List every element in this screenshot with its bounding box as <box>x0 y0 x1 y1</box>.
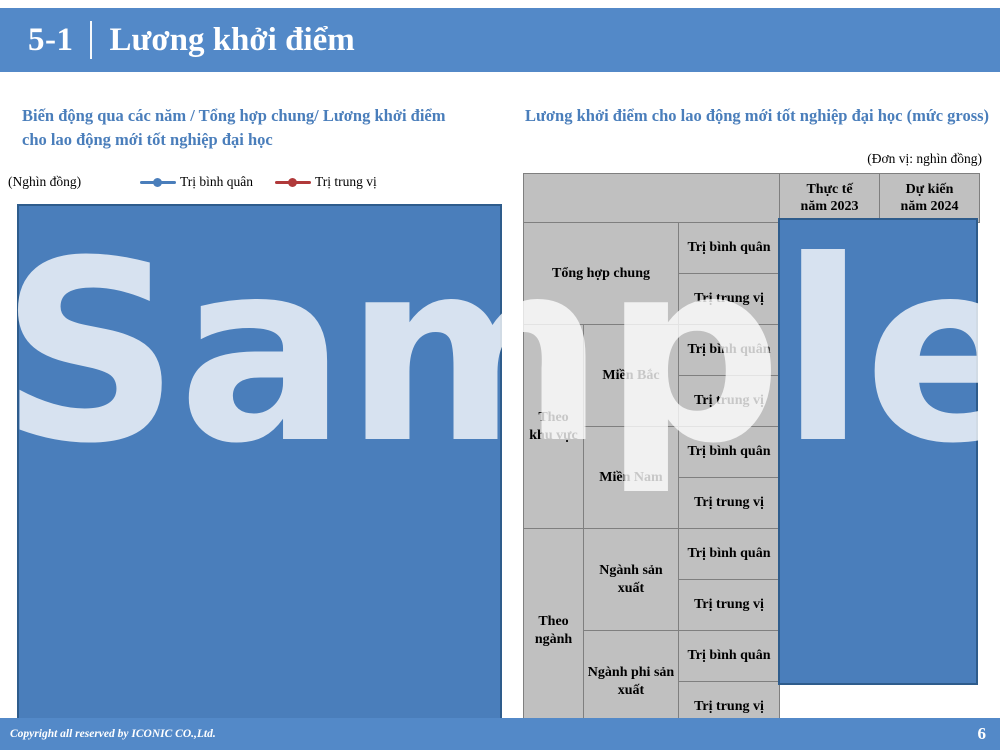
table-unit-note: (Đơn vị: nghìn đồng) <box>867 151 982 167</box>
table-corner-cell <box>524 174 780 223</box>
row-subgroup-north: Miền Bắc <box>584 325 679 427</box>
row-subgroup-manufacturing: Ngành sản xuất <box>584 529 679 631</box>
column-header-plan-2024: Dự kiến năm 2024 <box>880 174 980 223</box>
metric-non-manufacturing-average: Trị bình quân <box>679 631 780 682</box>
metric-overall-median: Trị trung vị <box>679 274 780 325</box>
table-data-mask <box>778 218 978 685</box>
row-group-region: Theo khu vực <box>524 325 584 529</box>
row-group-overall: Tổng hợp chung <box>524 223 679 325</box>
footer-copyright: Copyright all reserved by ICONIC CO.,Ltd… <box>10 728 216 740</box>
slide-footer: Copyright all reserved by ICONIC CO.,Ltd… <box>0 718 1000 750</box>
legend-label-median: Trị trung vị <box>315 174 377 190</box>
section-number: 5-1 <box>28 24 74 57</box>
footer-page-number: 6 <box>978 724 987 744</box>
metric-north-median: Trị trung vị <box>679 376 780 427</box>
metric-manufacturing-median: Trị trung vị <box>679 580 780 631</box>
metric-south-average: Trị bình quân <box>679 427 780 478</box>
slide-header: 5-1 Lương khởi điểm <box>0 8 1000 72</box>
slide-root: 5-1 Lương khởi điểm Biến động qua các nă… <box>0 0 1000 750</box>
row-group-industry: Theo ngành <box>524 529 584 733</box>
metric-overall-average: Trị bình quân <box>679 223 780 274</box>
chart-title: Biến động qua các năm / Tổng hợp chung/ … <box>22 104 472 152</box>
left-chart-panel: Biến động qua các năm / Tổng hợp chung/ … <box>0 96 515 696</box>
chart-legend: Trị bình quân Trị trung vị <box>140 174 377 190</box>
chart-plot-area <box>17 204 502 741</box>
line-marker-icon <box>140 177 176 187</box>
y-axis-unit-label: (Nghìn đồng) <box>8 174 81 190</box>
column-header-actual-2023: Thực tế năm 2023 <box>780 174 880 223</box>
line-marker-icon <box>275 177 311 187</box>
legend-label-average: Trị bình quân <box>180 174 253 190</box>
header-divider <box>90 21 92 59</box>
metric-manufacturing-average: Trị bình quân <box>679 529 780 580</box>
table-title: Lương khởi điểm cho lao động mới tốt ngh… <box>525 104 997 128</box>
table-header-row: Thực tế năm 2023 Dự kiến năm 2024 <box>524 174 980 223</box>
metric-south-median: Trị trung vị <box>679 478 780 529</box>
metric-north-average: Trị bình quân <box>679 325 780 376</box>
row-subgroup-south: Miền Nam <box>584 427 679 529</box>
page-title: Lương khởi điểm <box>110 24 355 57</box>
legend-item-median: Trị trung vị <box>275 174 377 190</box>
legend-item-average: Trị bình quân <box>140 174 253 190</box>
